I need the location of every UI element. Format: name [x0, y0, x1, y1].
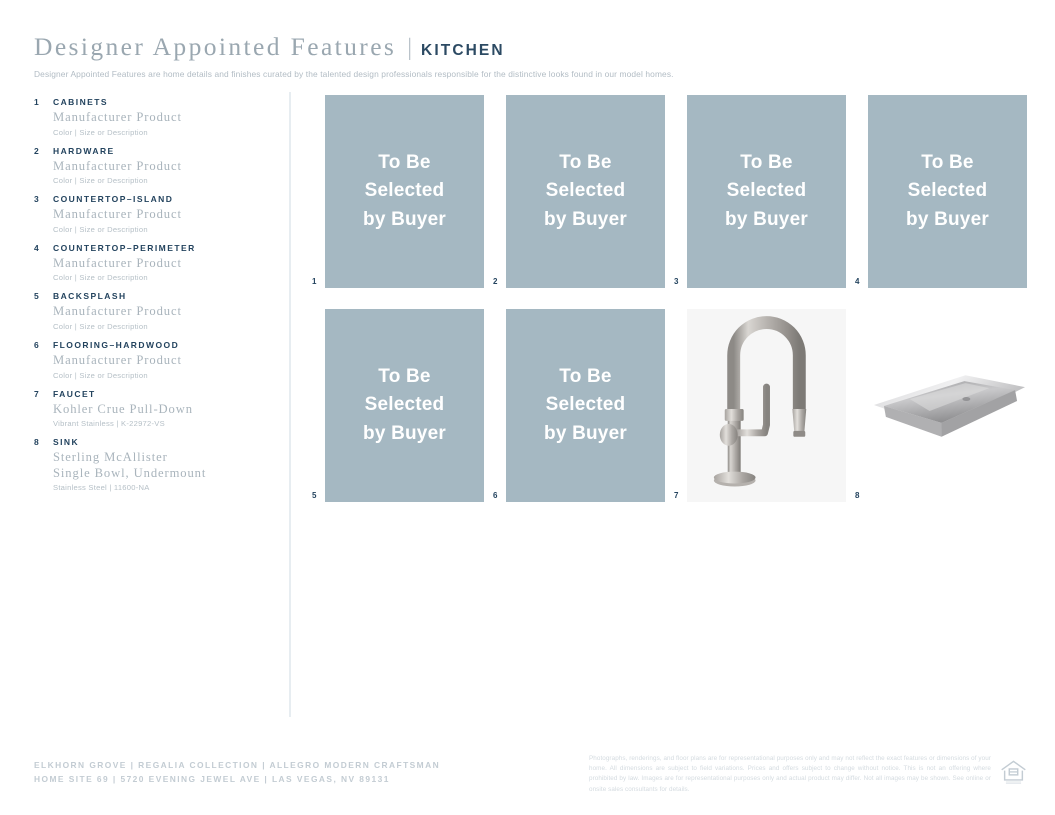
grid-row: To BeSelectedby Buyer5To BeSelectedby Bu… — [303, 309, 1028, 502]
spec-item-product: Manufacturer Product — [53, 304, 274, 320]
spec-item: 5BACKSPLASHManufacturer ProductColor | S… — [34, 291, 274, 331]
product-photo — [687, 309, 846, 502]
spec-item-header: 2HARDWARE — [34, 146, 274, 156]
spec-item-detail: Stainless Steel | 11600-NA — [53, 483, 274, 492]
spec-item-product: Manufacturer Product — [53, 159, 274, 175]
spec-item-detail: Vibrant Stainless | K-22972-VS — [53, 419, 274, 428]
grid-cell[interactable]: To BeSelectedby Buyer2 — [484, 95, 665, 288]
title-row: Designer Appointed Features | KITCHEN — [34, 34, 1024, 60]
placeholder-tile: To BeSelectedby Buyer — [506, 95, 665, 288]
product-photo — [868, 309, 1027, 502]
footer-community-line-1: ELKHORN GROVE | REGALIA COLLECTION | ALL… — [34, 758, 440, 772]
spec-item: 6FLOORING–HARDWOODManufacturer ProductCo… — [34, 340, 274, 380]
placeholder-label: To BeSelectedby Buyer — [363, 149, 446, 233]
designer-appointed-features-page: Designer Appointed Features | KITCHEN De… — [0, 0, 1055, 815]
spec-item-number: 5 — [34, 291, 53, 301]
grid-cell[interactable]: To BeSelectedby Buyer1 — [303, 95, 484, 288]
footer-community-line-2: HOME SITE 69 | 5720 EVENING JEWEL AVE | … — [34, 772, 440, 786]
spec-item-number: 7 — [34, 389, 53, 399]
spec-item-detail: Color | Size or Description — [53, 128, 274, 137]
grid-cell[interactable]: To BeSelectedby Buyer3 — [665, 95, 846, 288]
spec-item-product: Manufacturer Product — [53, 207, 274, 223]
grid-cell[interactable]: To BeSelectedby Buyer6 — [484, 309, 665, 502]
placeholder-tile: To BeSelectedby Buyer — [506, 309, 665, 502]
undermount-single-bowl-stainless-sink-image — [868, 309, 1027, 502]
spec-item-category: COUNTERTOP–ISLAND — [53, 194, 173, 204]
spec-item-body: Manufacturer ProductColor | Size or Desc… — [34, 304, 274, 331]
spec-item-header: 1CABINETS — [34, 97, 274, 107]
placeholder-swatch: To BeSelectedby Buyer — [868, 95, 1027, 288]
title-divider: | — [407, 36, 412, 60]
grid-cell-index: 4 — [855, 277, 860, 286]
spec-item-detail: Color | Size or Description — [53, 371, 274, 380]
placeholder-swatch: To BeSelectedby Buyer — [506, 309, 665, 502]
grid-cell-index: 8 — [855, 491, 860, 500]
footer-disclaimer: Photographs, renderings, and floor plans… — [589, 754, 991, 795]
kitchen-faucet-pull-down-stainless-image — [687, 309, 846, 502]
placeholder-tile: To BeSelectedby Buyer — [325, 309, 484, 502]
spec-item-number: 3 — [34, 194, 53, 204]
grid-cell[interactable]: To BeSelectedby Buyer4 — [846, 95, 1027, 288]
spec-item-product: Manufacturer Product — [53, 353, 274, 369]
spec-item-category: CABINETS — [53, 97, 108, 107]
spec-item: 1CABINETSManufacturer ProductColor | Siz… — [34, 97, 274, 137]
footer-community-info: ELKHORN GROVE | REGALIA COLLECTION | ALL… — [34, 758, 440, 786]
placeholder-label: To BeSelectedby Buyer — [544, 149, 627, 233]
spec-item-category: SINK — [53, 437, 79, 447]
spec-item-category: HARDWARE — [53, 146, 115, 156]
page-subtitle: Designer Appointed Features are home det… — [34, 69, 1024, 79]
spec-item-category: BACKSPLASH — [53, 291, 127, 301]
spec-item: 8SINKSterling McAllisterSingle Bowl, Und… — [34, 437, 274, 492]
spec-item-detail: Color | Size or Description — [53, 225, 274, 234]
spec-item-category: FAUCET — [53, 389, 96, 399]
grid-cell-index: 2 — [493, 277, 498, 286]
spec-item-number: 6 — [34, 340, 53, 350]
spec-item-product: Sterling McAllisterSingle Bowl, Undermou… — [53, 450, 274, 481]
placeholder-tile: To BeSelectedby Buyer — [868, 95, 1027, 288]
equal-housing-opportunity-icon — [1000, 758, 1027, 785]
spec-item-body: Manufacturer ProductColor | Size or Desc… — [34, 256, 274, 283]
spec-item-product: Manufacturer Product — [53, 110, 274, 126]
placeholder-swatch: To BeSelectedby Buyer — [325, 309, 484, 502]
page-title: Designer Appointed Features — [34, 34, 396, 60]
spec-item-header: 8SINK — [34, 437, 274, 447]
placeholder-label: To BeSelectedby Buyer — [363, 363, 446, 447]
spec-item-number: 2 — [34, 146, 53, 156]
spec-item-header: 3COUNTERTOP–ISLAND — [34, 194, 274, 204]
placeholder-swatch: To BeSelectedby Buyer — [687, 95, 846, 288]
grid-cell-index: 7 — [674, 491, 679, 500]
grid-cell-index: 6 — [493, 491, 498, 500]
grid-cell[interactable]: To BeSelectedby Buyer5 — [303, 309, 484, 502]
spec-item-product: Kohler Crue Pull-Down — [53, 402, 274, 418]
spec-item-body: Manufacturer ProductColor | Size or Desc… — [34, 159, 274, 186]
grid-cell-index: 3 — [674, 277, 679, 286]
spec-item-header: 4COUNTERTOP–PERIMETER — [34, 243, 274, 253]
spec-item-number: 4 — [34, 243, 53, 253]
room-label: KITCHEN — [421, 43, 505, 59]
placeholder-tile: To BeSelectedby Buyer — [687, 95, 846, 288]
spec-item-number: 8 — [34, 437, 53, 447]
grid-cell-index: 1 — [312, 277, 317, 286]
placeholder-label: To BeSelectedby Buyer — [906, 149, 989, 233]
spec-item-category: COUNTERTOP–PERIMETER — [53, 243, 196, 253]
column-divider — [289, 92, 291, 717]
placeholder-swatch: To BeSelectedby Buyer — [506, 95, 665, 288]
placeholder-label: To BeSelectedby Buyer — [544, 363, 627, 447]
spec-item-detail: Color | Size or Description — [53, 273, 274, 282]
spec-item-detail: Color | Size or Description — [53, 176, 274, 185]
spec-item-body: Manufacturer ProductColor | Size or Desc… — [34, 207, 274, 234]
spec-item-category: FLOORING–HARDWOOD — [53, 340, 179, 350]
feature-image-grid: To BeSelectedby Buyer1To BeSelectedby Bu… — [303, 95, 1028, 502]
spec-item: 7FAUCETKohler Crue Pull-DownVibrant Stai… — [34, 389, 274, 429]
page-header: Designer Appointed Features | KITCHEN De… — [34, 34, 1024, 79]
grid-cell[interactable]: 7 — [665, 309, 846, 502]
grid-cell[interactable]: 8 — [846, 309, 1027, 502]
spec-item-product: Manufacturer Product — [53, 256, 274, 272]
spec-item-detail: Color | Size or Description — [53, 322, 274, 331]
spec-item-number: 1 — [34, 97, 53, 107]
spec-item-header: 5BACKSPLASH — [34, 291, 274, 301]
spec-item: 4COUNTERTOP–PERIMETERManufacturer Produc… — [34, 243, 274, 283]
spec-item-body: Kohler Crue Pull-DownVibrant Stainless |… — [34, 402, 274, 429]
spec-item-body: Manufacturer ProductColor | Size or Desc… — [34, 110, 274, 137]
spec-item-body: Manufacturer ProductColor | Size or Desc… — [34, 353, 274, 380]
grid-row: To BeSelectedby Buyer1To BeSelectedby Bu… — [303, 95, 1028, 288]
spec-list: 1CABINETSManufacturer ProductColor | Siz… — [34, 97, 274, 501]
placeholder-label: To BeSelectedby Buyer — [725, 149, 808, 233]
spec-item-body: Sterling McAllisterSingle Bowl, Undermou… — [34, 450, 274, 492]
spec-item-header: 6FLOORING–HARDWOOD — [34, 340, 274, 350]
placeholder-swatch: To BeSelectedby Buyer — [325, 95, 484, 288]
spec-item-header: 7FAUCET — [34, 389, 274, 399]
spec-item: 2HARDWAREManufacturer ProductColor | Siz… — [34, 146, 274, 186]
grid-cell-index: 5 — [312, 491, 317, 500]
spec-item: 3COUNTERTOP–ISLANDManufacturer ProductCo… — [34, 194, 274, 234]
placeholder-tile: To BeSelectedby Buyer — [325, 95, 484, 288]
